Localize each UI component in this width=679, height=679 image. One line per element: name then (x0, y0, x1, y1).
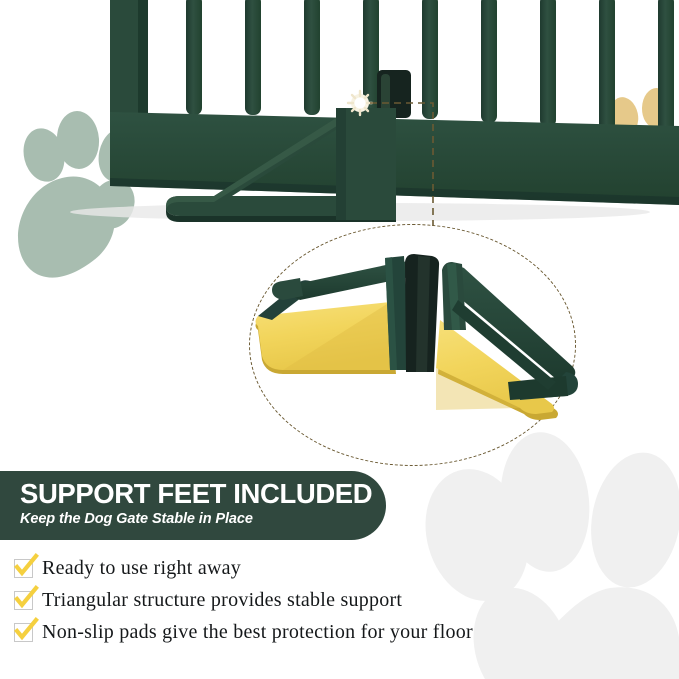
checkmark-icon (14, 623, 33, 642)
support-foot-right (436, 262, 578, 420)
feature-list: Ready to use right away Triangular struc… (14, 553, 654, 649)
infographic-canvas: SUPPORT FEET INCLUDED Keep the Dog Gate … (0, 0, 679, 679)
feature-item: Non-slip pads give the best protection f… (14, 617, 654, 648)
support-feet-center-connector (405, 254, 439, 372)
checkmark-icon (14, 591, 33, 610)
feature-label: Ready to use right away (42, 557, 241, 580)
feature-item: Triangular structure provides stable sup… (14, 585, 654, 616)
support-foot-left (256, 256, 415, 374)
feature-item: Ready to use right away (14, 553, 654, 584)
banner-subtitle: Keep the Dog Gate Stable in Place (20, 510, 386, 529)
banner-support-feet: SUPPORT FEET INCLUDED Keep the Dog Gate … (0, 471, 386, 540)
feature-label: Non-slip pads give the best protection f… (42, 621, 473, 644)
banner-title: SUPPORT FEET INCLUDED (20, 478, 386, 510)
feature-label: Triangular structure provides stable sup… (42, 589, 402, 612)
checkmark-icon (14, 559, 33, 578)
